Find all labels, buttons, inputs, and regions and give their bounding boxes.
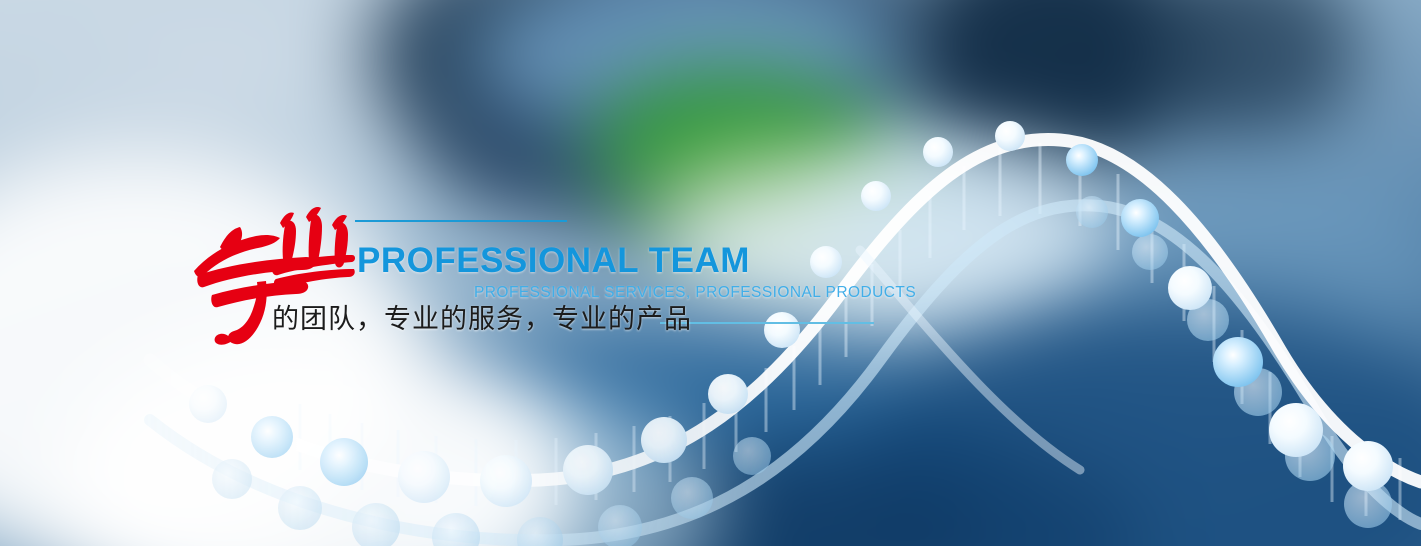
page-title: PROFESSIONAL TEAM bbox=[357, 243, 750, 278]
divider-line-top bbox=[355, 220, 567, 222]
banner-text-block: 专业 bbox=[0, 0, 1421, 546]
hero-banner: 专业 bbox=[0, 0, 1421, 546]
page-subtitle: PROFESSIONAL SERVICES, PROFESSIONAL PROD… bbox=[474, 285, 916, 301]
divider-line-bottom bbox=[660, 322, 874, 324]
chinese-tagline: 的团队，专业的服务，专业的产品 bbox=[272, 306, 692, 333]
